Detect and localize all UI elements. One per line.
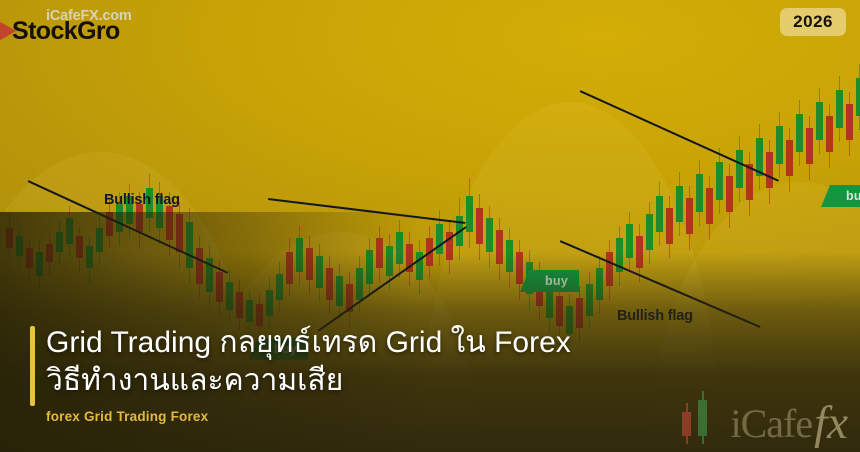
arrow-growth-icon: [0, 16, 16, 46]
watermark-fx: fx: [814, 402, 848, 444]
page-subtitle: forex Grid Trading Forex: [46, 409, 630, 424]
accent-bar: [30, 326, 35, 406]
buy-signal-tag-1[interactable]: buy: [529, 270, 579, 292]
page-title: Grid Trading กลยุทธ์เทรด Grid ใน Forex ว…: [46, 324, 606, 400]
watermark-bottom-logo: iCafe fx: [680, 392, 848, 444]
youtube-thumbnail-card: Bullish flagBullish flag buybuybuy Stock…: [0, 0, 860, 452]
year-badge: 2026: [780, 8, 846, 36]
candle-red-icon: [682, 412, 691, 436]
candle-green-icon: [698, 400, 707, 436]
buy-signal-tag-3[interactable]: buy: [830, 185, 860, 207]
watermark-top-text: iCafeFX.com: [46, 8, 132, 24]
title-block: Grid Trading กลยุทธ์เทรด Grid ใน Forex ว…: [30, 324, 630, 424]
candlestick-icon-group: [680, 392, 724, 444]
watermark-word: iCafe: [730, 404, 812, 444]
